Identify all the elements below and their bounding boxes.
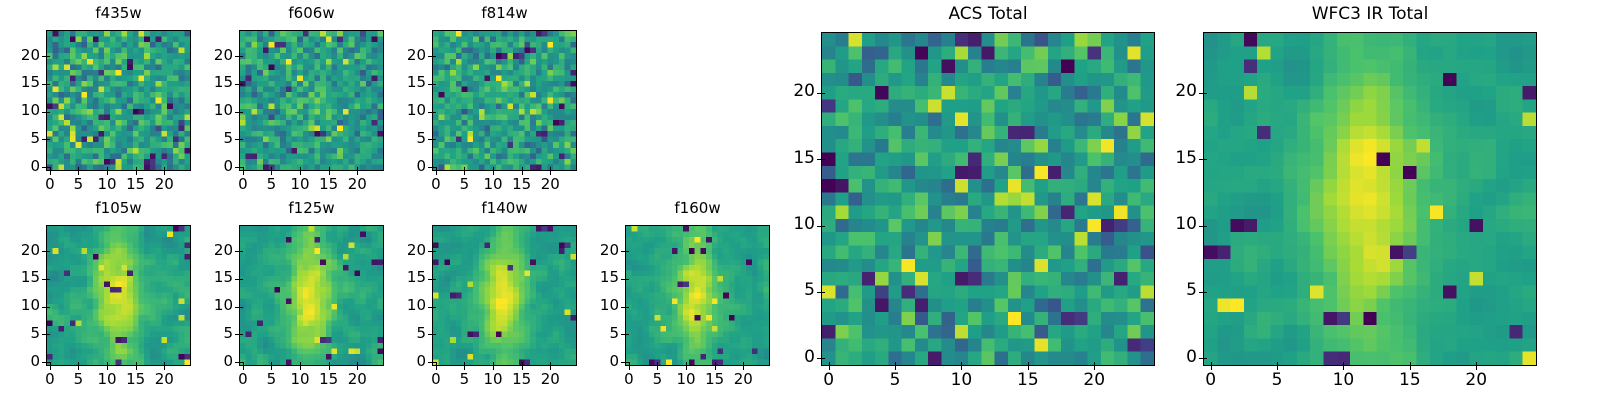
y-tick-label: 10	[585, 298, 619, 313]
heatmap-image	[1204, 33, 1536, 365]
y-tick-mark	[817, 358, 821, 359]
y-tick-mark	[817, 159, 821, 160]
y-tick-label: 10	[392, 298, 426, 313]
y-tick-mark	[428, 139, 432, 140]
x-tick-mark-inner	[961, 362, 962, 365]
y-tick-mark	[817, 93, 821, 94]
y-tick-mark-inner	[240, 112, 243, 113]
heatmap-axes	[821, 32, 1155, 366]
x-tick-mark-inner	[107, 362, 108, 365]
y-tick-label: 20	[199, 243, 233, 258]
x-tick-mark-inner	[329, 167, 330, 170]
y-tick-label: 0	[392, 354, 426, 369]
y-tick-mark	[817, 226, 821, 227]
y-tick-label: 20	[6, 243, 40, 258]
y-tick-mark-inner	[240, 139, 243, 140]
y-tick-mark-inner	[433, 84, 436, 85]
y-tick-mark-inner	[822, 93, 825, 94]
x-tick-label: 15	[1390, 372, 1430, 389]
x-tick-mark-inner	[300, 362, 301, 365]
y-tick-mark	[1199, 93, 1203, 94]
x-tick-mark-inner	[550, 167, 551, 170]
panel-title: f140w	[432, 201, 577, 216]
panel-title: f105w	[46, 201, 191, 216]
y-tick-mark	[428, 279, 432, 280]
x-tick-mark-inner	[657, 362, 658, 365]
x-tick-mark-inner	[243, 362, 244, 365]
y-tick-label: 5	[392, 131, 426, 146]
y-tick-mark-inner	[240, 84, 243, 85]
y-tick-label: 5	[199, 326, 233, 341]
y-tick-mark-inner	[626, 334, 629, 335]
y-tick-mark	[1199, 358, 1203, 359]
y-tick-mark	[1199, 159, 1203, 160]
x-tick-label: 0	[809, 372, 849, 389]
y-tick-mark-inner	[47, 251, 50, 252]
x-tick-label: 20	[337, 177, 377, 192]
panel-title: WFC3 IR Total	[1203, 6, 1537, 23]
panel-title: f606w	[239, 6, 384, 21]
x-tick-mark-inner	[1094, 362, 1095, 365]
panel-title: ACS Total	[821, 6, 1155, 23]
x-tick-mark-inner	[436, 167, 437, 170]
y-tick-mark-inner	[1204, 292, 1207, 293]
x-tick-label: 5	[1257, 372, 1297, 389]
heatmap-axes	[239, 225, 384, 366]
y-tick-label: 5	[6, 131, 40, 146]
y-tick-mark	[42, 167, 46, 168]
x-tick-label: 20	[144, 372, 184, 387]
x-tick-mark-inner	[271, 362, 272, 365]
x-tick-label: 5	[875, 372, 915, 389]
heatmap-axes	[432, 30, 577, 171]
x-tick-mark-inner	[895, 362, 896, 365]
x-tick-mark-inner	[743, 362, 744, 365]
x-tick-mark-inner	[436, 362, 437, 365]
y-tick-mark	[42, 307, 46, 308]
panel-title: f814w	[432, 6, 577, 21]
y-tick-mark	[235, 139, 239, 140]
x-tick-mark-inner	[50, 167, 51, 170]
y-tick-mark-inner	[47, 112, 50, 113]
y-tick-mark-inner	[1204, 358, 1207, 359]
x-tick-label: 20	[723, 372, 763, 387]
x-tick-label: 20	[337, 372, 377, 387]
y-tick-mark	[817, 292, 821, 293]
y-tick-mark	[621, 251, 625, 252]
x-tick-mark-inner	[271, 167, 272, 170]
heatmap-image	[433, 226, 576, 365]
x-tick-mark-inner	[1028, 362, 1029, 365]
x-tick-mark-inner	[164, 362, 165, 365]
heatmap-image	[822, 33, 1154, 365]
y-tick-label: 20	[6, 48, 40, 63]
y-tick-mark	[235, 251, 239, 252]
y-tick-mark	[42, 279, 46, 280]
y-tick-mark-inner	[822, 226, 825, 227]
y-tick-mark	[235, 84, 239, 85]
x-tick-mark-inner	[493, 362, 494, 365]
heatmap-axes	[46, 225, 191, 366]
x-tick-mark-inner	[50, 362, 51, 365]
heatmap-axes	[432, 225, 577, 366]
y-tick-label: 0	[6, 159, 40, 174]
x-tick-label: 15	[1008, 372, 1048, 389]
y-tick-mark	[42, 334, 46, 335]
panel-title: f435w	[46, 6, 191, 21]
x-tick-mark-inner	[629, 362, 630, 365]
y-tick-mark	[235, 307, 239, 308]
y-tick-mark	[235, 112, 239, 113]
y-tick-mark-inner	[47, 139, 50, 140]
y-tick-label: 20	[392, 48, 426, 63]
x-tick-mark-inner	[357, 362, 358, 365]
y-tick-label: 0	[199, 354, 233, 369]
y-tick-label: 5	[392, 326, 426, 341]
heatmap-image	[240, 31, 383, 170]
y-tick-mark	[428, 56, 432, 57]
y-tick-mark	[1199, 226, 1203, 227]
y-tick-mark-inner	[433, 279, 436, 280]
y-tick-mark-inner	[626, 251, 629, 252]
total-panel-0: ACS Total0510152005101520	[821, 6, 1155, 392]
x-tick-label: 10	[941, 372, 981, 389]
y-tick-mark	[428, 307, 432, 308]
y-tick-label: 5	[781, 282, 815, 299]
y-tick-mark	[621, 362, 625, 363]
heatmap-axes	[46, 30, 191, 171]
x-tick-mark-inner	[493, 167, 494, 170]
y-tick-label: 20	[199, 48, 233, 63]
y-tick-mark	[621, 307, 625, 308]
y-tick-label: 10	[6, 103, 40, 118]
y-tick-mark	[428, 334, 432, 335]
y-tick-mark	[235, 56, 239, 57]
filter-panel-2: f814w0510152005101520	[432, 6, 577, 193]
filter-panel-4: f125w0510152005101520	[239, 201, 384, 388]
panel-title: f160w	[625, 201, 770, 216]
x-tick-mark-inner	[78, 167, 79, 170]
heatmap-image	[240, 226, 383, 365]
y-tick-mark	[621, 279, 625, 280]
y-tick-mark	[428, 362, 432, 363]
filter-panel-3: f105w0510152005101520	[46, 201, 191, 388]
y-tick-mark	[42, 112, 46, 113]
y-tick-mark	[235, 334, 239, 335]
y-tick-mark-inner	[240, 307, 243, 308]
y-tick-label: 20	[392, 243, 426, 258]
y-tick-label: 15	[6, 270, 40, 285]
y-tick-mark-inner	[240, 279, 243, 280]
y-tick-label: 15	[1163, 150, 1197, 167]
y-tick-label: 20	[1163, 83, 1197, 100]
y-tick-label: 5	[1163, 282, 1197, 299]
x-tick-mark-inner	[329, 362, 330, 365]
y-tick-mark-inner	[47, 279, 50, 280]
y-tick-label: 20	[781, 83, 815, 100]
y-tick-label: 0	[781, 349, 815, 366]
y-tick-label: 15	[199, 270, 233, 285]
x-tick-label: 20	[530, 372, 570, 387]
y-tick-mark-inner	[433, 251, 436, 252]
heatmap-axes	[625, 225, 770, 366]
heatmap-image	[47, 226, 190, 365]
y-tick-mark	[1199, 292, 1203, 293]
y-tick-label: 10	[6, 298, 40, 313]
y-tick-mark	[42, 251, 46, 252]
x-tick-mark-inner	[686, 362, 687, 365]
x-tick-label: 0	[1191, 372, 1231, 389]
y-tick-mark	[428, 84, 432, 85]
y-tick-mark-inner	[1204, 93, 1207, 94]
x-tick-mark-inner	[164, 167, 165, 170]
y-tick-mark-inner	[47, 334, 50, 335]
y-tick-label: 15	[392, 75, 426, 90]
y-tick-mark	[235, 362, 239, 363]
x-tick-mark-inner	[550, 362, 551, 365]
y-tick-mark-inner	[1204, 159, 1207, 160]
y-tick-label: 15	[392, 270, 426, 285]
y-tick-label: 15	[585, 270, 619, 285]
y-tick-label: 10	[781, 216, 815, 233]
y-tick-mark	[428, 112, 432, 113]
heatmap-image	[433, 31, 576, 170]
x-tick-mark-inner	[1476, 362, 1477, 365]
y-tick-label: 15	[199, 75, 233, 90]
y-tick-mark	[428, 167, 432, 168]
y-tick-mark-inner	[822, 159, 825, 160]
y-tick-label: 10	[199, 103, 233, 118]
y-tick-label: 0	[392, 159, 426, 174]
y-tick-mark-inner	[1204, 226, 1207, 227]
y-tick-label: 5	[6, 326, 40, 341]
filter-panel-1: f606w0510152005101520	[239, 6, 384, 193]
y-tick-mark-inner	[433, 112, 436, 113]
x-tick-mark-inner	[243, 167, 244, 170]
x-tick-mark-inner	[522, 362, 523, 365]
y-tick-mark-inner	[47, 84, 50, 85]
heatmap-axes	[239, 30, 384, 171]
y-tick-mark-inner	[240, 56, 243, 57]
y-tick-label: 10	[392, 103, 426, 118]
x-tick-mark-inner	[1410, 362, 1411, 365]
heatmap-image	[626, 226, 769, 365]
y-tick-mark-inner	[47, 56, 50, 57]
x-tick-label: 20	[1074, 372, 1114, 389]
y-tick-mark-inner	[433, 307, 436, 308]
x-tick-mark-inner	[522, 167, 523, 170]
figure-canvas: f435w0510152005101520f606w05101520051015…	[0, 0, 1600, 400]
y-tick-label: 15	[6, 75, 40, 90]
y-tick-mark-inner	[47, 307, 50, 308]
x-tick-mark-inner	[829, 362, 830, 365]
y-tick-mark-inner	[433, 139, 436, 140]
y-tick-mark	[621, 334, 625, 335]
total-panel-1: WFC3 IR Total0510152005101520	[1203, 6, 1537, 392]
x-tick-mark-inner	[78, 362, 79, 365]
y-tick-mark-inner	[822, 292, 825, 293]
x-tick-mark-inner	[464, 167, 465, 170]
heatmap-image	[47, 31, 190, 170]
y-tick-mark-inner	[626, 279, 629, 280]
heatmap-axes	[1203, 32, 1537, 366]
x-tick-mark-inner	[107, 167, 108, 170]
x-tick-mark-inner	[1343, 362, 1344, 365]
y-tick-label: 5	[199, 131, 233, 146]
panel-title: f125w	[239, 201, 384, 216]
y-tick-label: 10	[1163, 216, 1197, 233]
y-tick-mark	[428, 251, 432, 252]
y-tick-label: 5	[585, 326, 619, 341]
x-tick-mark-inner	[1277, 362, 1278, 365]
y-tick-mark-inner	[240, 251, 243, 252]
y-tick-mark-inner	[626, 307, 629, 308]
x-tick-mark-inner	[357, 167, 358, 170]
x-tick-mark-inner	[136, 362, 137, 365]
y-tick-mark	[42, 84, 46, 85]
y-tick-label: 10	[199, 298, 233, 313]
x-tick-label: 20	[144, 177, 184, 192]
y-tick-mark	[42, 362, 46, 363]
x-tick-mark-inner	[1211, 362, 1212, 365]
y-tick-label: 0	[585, 354, 619, 369]
y-tick-label: 15	[781, 150, 815, 167]
y-tick-mark-inner	[240, 334, 243, 335]
y-tick-mark-inner	[822, 358, 825, 359]
y-tick-mark	[235, 279, 239, 280]
x-tick-label: 20	[1456, 372, 1496, 389]
filter-panel-5: f140w0510152005101520	[432, 201, 577, 388]
x-tick-mark-inner	[136, 167, 137, 170]
y-tick-mark	[42, 139, 46, 140]
y-tick-mark-inner	[433, 334, 436, 335]
x-tick-mark-inner	[464, 362, 465, 365]
y-tick-mark-inner	[433, 56, 436, 57]
x-tick-label: 20	[530, 177, 570, 192]
y-tick-mark	[235, 167, 239, 168]
filter-panel-0: f435w0510152005101520	[46, 6, 191, 193]
y-tick-label: 0	[199, 159, 233, 174]
x-tick-mark-inner	[715, 362, 716, 365]
y-tick-label: 20	[585, 243, 619, 258]
y-tick-mark	[42, 56, 46, 57]
y-tick-label: 0	[1163, 349, 1197, 366]
filter-panel-6: f160w0510152005101520	[625, 201, 770, 388]
x-tick-label: 10	[1323, 372, 1363, 389]
y-tick-label: 0	[6, 354, 40, 369]
x-tick-mark-inner	[300, 167, 301, 170]
